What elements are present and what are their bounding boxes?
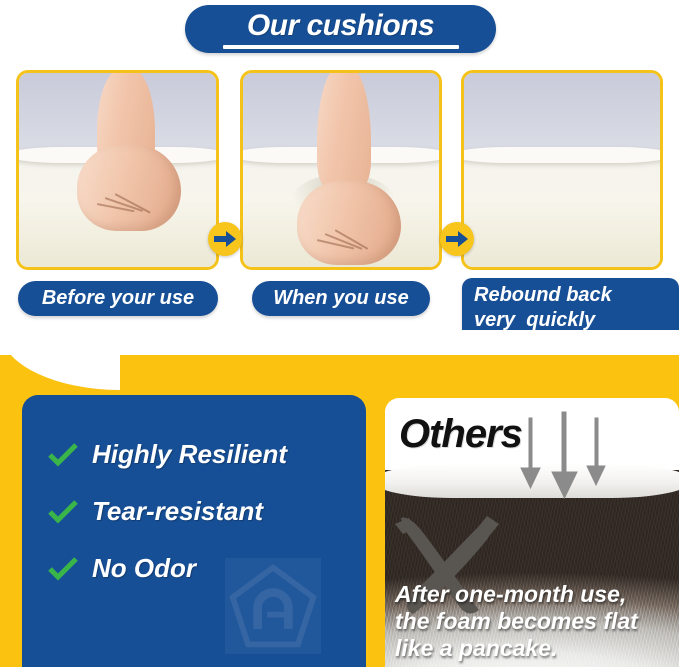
others-caption: After one-month use, the foam becomes fl… (395, 581, 677, 662)
others-title: Others (399, 412, 522, 457)
check-icon (48, 443, 78, 467)
arrow-right-icon-1 (208, 222, 242, 256)
feature-tear-resistant: Tear-resistant (48, 496, 263, 527)
pentagon-house-logo-watermark (225, 558, 321, 654)
feature-highly-resilient-label: Highly Resilient (92, 439, 287, 470)
product-infographic: Our cushions (0, 0, 679, 667)
feature-tear-resistant-label: Tear-resistant (92, 496, 263, 527)
others-caption-line-2: the foam becomes flat (395, 608, 677, 635)
caption-when-you-use: When you use (252, 281, 430, 316)
down-arrows-icon (513, 410, 613, 510)
others-panel: Others (385, 398, 679, 667)
demo-photo-3 (461, 70, 663, 270)
photo-background-wall (464, 73, 660, 158)
foam-cushion (464, 154, 660, 267)
feature-no-odor-label: No Odor (92, 553, 196, 584)
band-corner-curve (0, 330, 120, 390)
demo-photo-row (0, 70, 679, 270)
feature-no-odor: No Odor (48, 553, 196, 584)
caption-before-use-text: Before your use (42, 287, 194, 310)
check-icon (48, 500, 78, 524)
check-icon (48, 557, 78, 581)
caption-when-you-use-text: When you use (273, 287, 409, 310)
demo-photo-1 (16, 70, 219, 270)
fist-resting-on-foam-photo (19, 73, 216, 267)
fist-pressing-into-foam-photo (243, 73, 439, 267)
caption-rebound-line-1: Rebound back (474, 283, 612, 308)
foam-rebounded-flat-photo (464, 73, 660, 267)
others-caption-line-3: like a pancake. (395, 635, 677, 662)
arrow-right-icon-2 (440, 222, 474, 256)
page-title: Our cushions (185, 5, 496, 53)
page-title-text: Our cushions (247, 8, 434, 44)
title-underline (223, 45, 459, 49)
others-caption-line-1: After one-month use, (395, 581, 677, 608)
caption-before-use: Before your use (18, 281, 218, 316)
our-cushion-panel: Highly Resilient Tear-resistant No Odor (22, 395, 366, 667)
feature-highly-resilient: Highly Resilient (48, 439, 287, 470)
demo-photo-2 (240, 70, 442, 270)
